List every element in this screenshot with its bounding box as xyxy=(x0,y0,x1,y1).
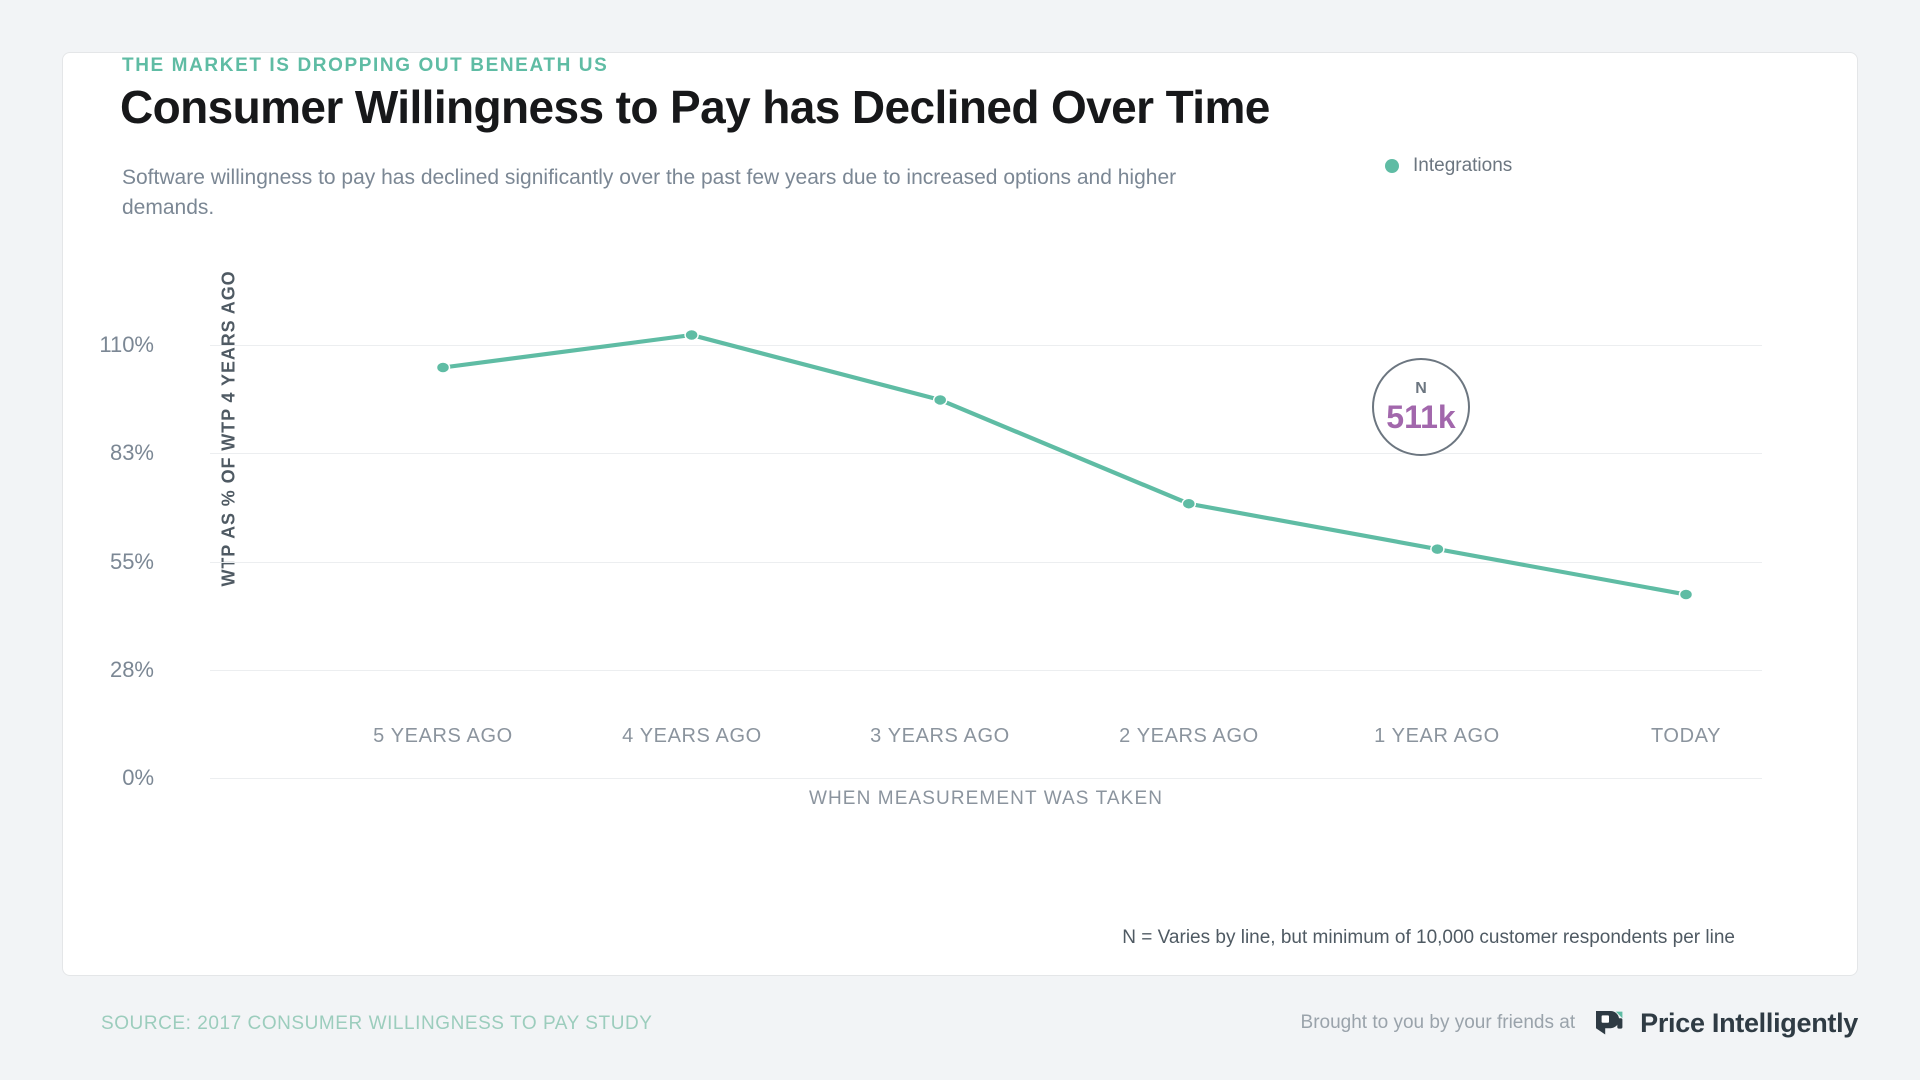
source-credit: SOURCE: 2017 CONSUMER WILLINGNESS TO PAY… xyxy=(101,1013,652,1035)
gridline-0 xyxy=(210,778,1762,779)
chart-footnote: N = Varies by line, but minimum of 10,00… xyxy=(0,927,1735,949)
footer-brand-block: Brought to you by your friends at Price … xyxy=(1301,1006,1858,1040)
line-chart-plot: WTP AS % OF WTP 4 YEARS AGO 110% 83% 55%… xyxy=(122,270,1762,810)
infographic-root: THE MARKET IS DROPPING OUT BENEATH US Co… xyxy=(0,0,1920,1080)
x-tick-label-5: TODAY xyxy=(1651,725,1721,748)
y-tick-label-110: 110% xyxy=(34,332,154,358)
sample-size-value: 511k xyxy=(1386,401,1455,433)
brought-to-you-text: Brought to you by your friends at xyxy=(1301,1012,1576,1034)
x-tick-label-1: 4 YEARS AGO xyxy=(622,725,762,748)
data-point-1 xyxy=(685,330,698,341)
data-point-3 xyxy=(1182,498,1195,509)
x-tick-label-4: 1 YEAR AGO xyxy=(1374,725,1500,748)
x-axis-title: WHEN MEASUREMENT WAS TAKEN xyxy=(210,788,1762,810)
x-tick-label-0: 5 YEARS AGO xyxy=(373,725,513,748)
page-subtitle: Software willingness to pay has declined… xyxy=(122,163,1242,223)
price-intelligently-logo-icon xyxy=(1593,1006,1627,1040)
x-tick-label-2: 3 YEARS AGO xyxy=(870,725,1010,748)
brand-lockup[interactable]: Price Intelligently xyxy=(1593,1006,1858,1040)
brand-name: Price Intelligently xyxy=(1640,1008,1858,1039)
legend-marker-circle-icon xyxy=(1385,159,1399,173)
sample-size-badge: N 511k xyxy=(1372,358,1470,456)
page-title: Consumer Willingness to Pay has Declined… xyxy=(120,80,1270,134)
y-tick-label-55: 55% xyxy=(34,549,154,575)
y-tick-label-0: 0% xyxy=(34,765,154,791)
y-tick-label-28: 28% xyxy=(34,657,154,683)
x-tick-label-3: 2 YEARS AGO xyxy=(1119,725,1259,748)
series-line-integrations xyxy=(210,270,1762,715)
data-point-2 xyxy=(934,395,947,406)
chart-legend[interactable]: Integrations xyxy=(1385,155,1512,177)
y-tick-label-83: 83% xyxy=(34,440,154,466)
legend-item-label: Integrations xyxy=(1413,155,1512,177)
eyebrow-kicker: THE MARKET IS DROPPING OUT BENEATH US xyxy=(122,55,608,77)
data-point-4 xyxy=(1431,544,1444,555)
sample-size-label: N xyxy=(1415,381,1427,397)
data-point-0 xyxy=(437,362,450,373)
data-point-5 xyxy=(1680,589,1693,600)
